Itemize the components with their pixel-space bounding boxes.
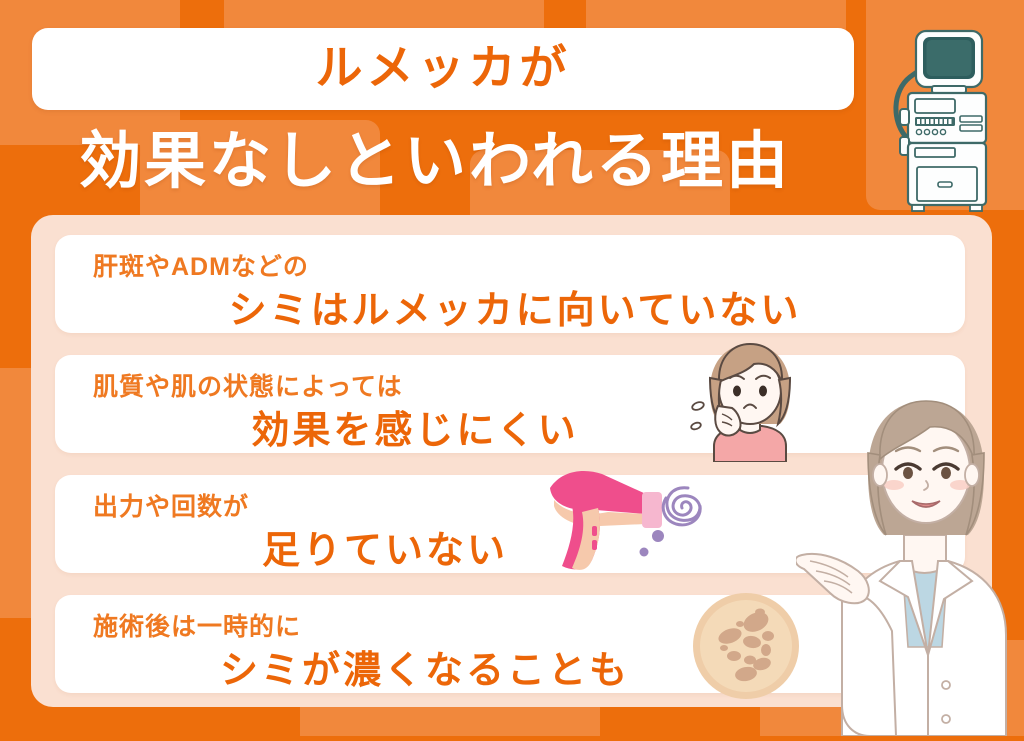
reason-card-3[interactable]: 出力や回数が 足りていない: [55, 475, 965, 573]
reason-lead-2: 肌質や肌の状態によっては: [93, 367, 403, 403]
reason-main-1: シミはルメッカに向いていない: [75, 279, 955, 334]
page-title-text: 効果なしといわれる理由: [79, 131, 791, 193]
page-subtitle: ルメッカが: [316, 44, 571, 91]
header: ルメッカが 効果なしといわれる理由: [0, 0, 1024, 215]
reasons-list: 肝斑やADMなどの シミはルメッカに向いていない 肌質や肌の状態によっては 効果…: [31, 215, 992, 707]
reason-lead-1: 肝斑やADMなどの: [93, 247, 309, 283]
reason-main-4: シミが濃くなることも: [75, 639, 775, 694]
page-title: 効果なしといわれる理由: [0, 116, 870, 208]
title-pill: ルメッカが: [32, 28, 854, 110]
reason-lead-3: 出力や回数が: [93, 487, 249, 523]
laser-machine-icon: [884, 25, 992, 215]
reasons-panel: 肝斑やADMなどの シミはルメッカに向いていない 肌質や肌の状態によっては 効果…: [31, 215, 992, 707]
reason-main-3: 足りていない: [75, 519, 695, 574]
reason-card-4[interactable]: 施術後は一時的に シミが濃くなることも: [55, 595, 965, 693]
reason-main-2: 効果を感じにくい: [75, 399, 755, 454]
reason-lead-4: 施術後は一時的に: [93, 607, 301, 643]
reason-card-1[interactable]: 肝斑やADMなどの シミはルメッカに向いていない: [55, 235, 965, 333]
reason-card-2[interactable]: 肌質や肌の状態によっては 効果を感じにくい: [55, 355, 965, 453]
